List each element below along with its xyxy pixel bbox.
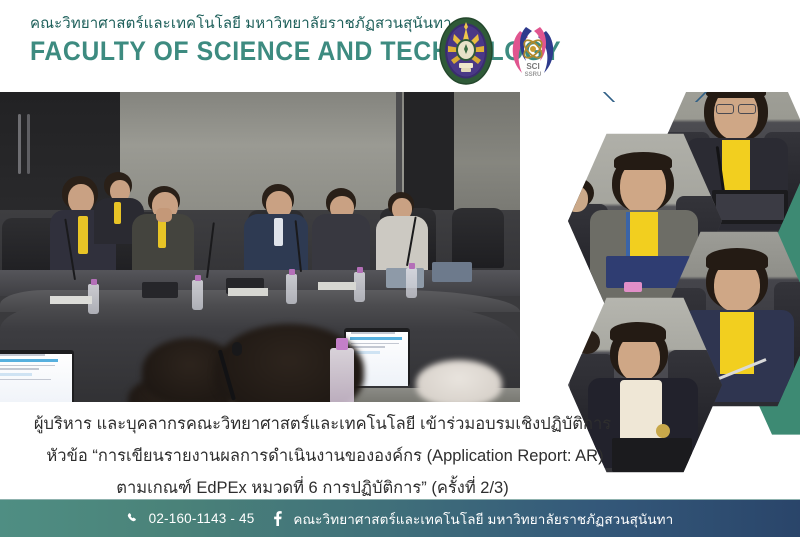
phone-icon [127,512,140,525]
svg-text:SCI: SCI [526,62,539,71]
table-monitor [0,350,74,402]
foreground-blurred-person [416,360,502,402]
tablet-device [142,282,178,298]
caption-line-1: ผู้บริหาร และบุคลากรคณะวิทยาศาสตร์และเทค… [0,408,800,440]
facebook-icon[interactable] [271,511,284,526]
tablet-device [386,268,424,288]
hand [156,208,172,222]
paper-sheet [318,282,356,290]
door-handle-left-2 [27,114,30,174]
paper-sheet [228,288,268,296]
footer-facebook-name[interactable]: คณะวิทยาศาสตร์และเทคโนโลยี มหาวิทยาลัยรา… [293,508,673,530]
water-bottle [192,280,203,310]
water-bottle [286,274,297,304]
microphone-head [232,342,242,356]
footer-bar: 02-160-1143 - 45 คณะวิทยาศาสตร์และเทคโนโ… [0,499,800,537]
sci-ssru-faculty-logo: SCI SSRU [506,21,560,81]
poster-header: คณะวิทยาศาสตร์และเทคโนโลยี มหาวิทยาลัยรา… [0,0,800,92]
door-handle-left [18,114,21,174]
tablet-device [432,262,472,282]
ssru-university-emblem [438,16,494,86]
bottle-cap [336,338,348,350]
caption-line-2: หัวข้อ “การเขียนรายงานผลการดำเนินงานของอ… [0,440,800,472]
footer-contact-group: 02-160-1143 - 45 คณะวิทยาศาสตร์และเทคโนโ… [127,508,674,530]
logo-group: SCI SSRU [438,16,560,86]
poster-canvas: คณะวิทยาศาสตร์และเทคโนโลยี มหาวิทยาลัยรา… [0,0,800,537]
footer-phone-number[interactable]: 02-160-1143 - 45 [149,511,255,526]
water-bottle [406,268,417,298]
svg-text:SSRU: SSRU [525,72,542,78]
chair [452,208,504,268]
meeting-room-wide-photo [0,92,520,402]
caption-block: ผู้บริหาร และบุคลากรคณะวิทยาศาสตร์และเทค… [0,404,800,499]
water-bottle [330,348,354,402]
paper-sheet [50,296,92,304]
room-background [0,92,520,402]
